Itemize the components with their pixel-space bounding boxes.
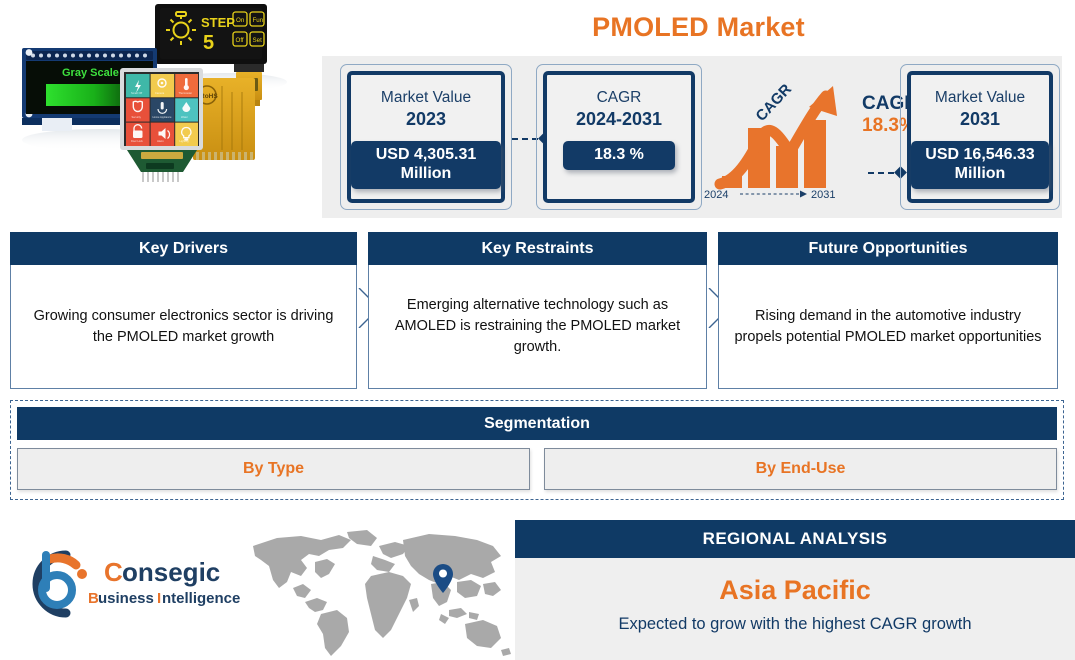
cagr-period: 2024-2031: [576, 108, 662, 131]
key-restraints-heading: Key Restraints: [368, 232, 707, 265]
market-value-2031-year: 2031: [960, 108, 1000, 131]
footer-row: C onsegic B usiness I ntelligence: [0, 512, 1075, 660]
cagr-value: 18.3 %: [563, 141, 675, 170]
regional-analysis-region: Asia Pacific: [515, 576, 1075, 606]
regional-analysis-heading: REGIONAL ANALYSIS: [515, 520, 1075, 558]
world-map: [243, 526, 515, 660]
key-drivers-heading: Key Drivers: [10, 232, 357, 265]
svg-text:Set: Set: [253, 37, 263, 44]
regional-analysis-panel: REGIONAL ANALYSIS Asia Pacific Expected …: [515, 520, 1075, 660]
svg-text:Door Lock: Door Lock: [131, 139, 144, 143]
segmentation-heading: Segmentation: [17, 407, 1057, 440]
logo-tagline-usiness: usiness: [98, 590, 154, 607]
future-opportunities-text: Rising demand in the automotive industry…: [718, 265, 1058, 389]
logo-tagline-i: I: [157, 590, 161, 607]
future-opportunities-column: Future Opportunities Rising demand in th…: [718, 232, 1058, 389]
key-drivers-column: Key Drivers Growing consumer electronics…: [10, 232, 357, 389]
market-value-2031-label: Market Value: [935, 88, 1025, 107]
svg-text:On: On: [236, 17, 245, 24]
svg-text:5: 5: [203, 32, 214, 54]
logo-name-accent: C: [104, 557, 123, 587]
logo-name-rest: onsegic: [122, 557, 220, 587]
svg-text:Water: Water: [181, 115, 188, 119]
svg-text:Smart Off: Smart Off: [131, 91, 142, 95]
market-value-2023-label: Market Value: [381, 88, 471, 107]
svg-text:Security: Security: [132, 115, 142, 119]
product-photo: STEP 5 On Fun Off Set: [0, 0, 320, 230]
market-value-2031-card: Market Value 2031 USD 16,546.33 Million: [900, 64, 1060, 210]
svg-text:Alarm: Alarm: [157, 139, 164, 143]
logo-tagline-ntelligence: ntelligence: [162, 590, 240, 607]
segmentation-by-end-use[interactable]: By End-Use: [544, 448, 1057, 490]
svg-text:Home Appliance: Home Appliance: [153, 115, 172, 119]
growth-curve-label: CAGR: [752, 81, 795, 125]
future-opportunities-heading: Future Opportunities: [718, 232, 1058, 265]
growth-end-year: 2031: [811, 189, 835, 201]
market-value-2031-value: USD 16,546.33 Million: [911, 141, 1049, 189]
infographic-page: STEP 5 On Fun Off Set: [0, 0, 1075, 660]
page-title: PMOLED Market: [322, 12, 1075, 43]
svg-text:Camera: Camera: [155, 91, 165, 95]
growth-start-year: 2024: [704, 189, 728, 201]
svg-text:Off: Off: [236, 37, 244, 44]
market-value-2023-year: 2023: [406, 108, 446, 131]
cagr-card: CAGR 2024-2031 18.3 %: [536, 64, 702, 210]
segmentation-section: Segmentation By Type By End-Use: [10, 400, 1064, 500]
stats-panel: Market Value 2023 USD 4,305.31 Million C…: [322, 56, 1062, 218]
drivers-row: Key Drivers Growing consumer electronics…: [0, 232, 1075, 394]
key-drivers-text: Growing consumer electronics sector is d…: [10, 265, 357, 389]
cagr-label: CAGR: [597, 88, 642, 107]
market-value-2023-card: Market Value 2023 USD 4,305.31 Million: [340, 64, 512, 210]
svg-text:Fun: Fun: [253, 17, 264, 24]
svg-text:Thermostat: Thermostat: [179, 91, 192, 95]
svg-text:STEP: STEP: [201, 15, 235, 30]
color-tft-module: Smart OffCameraThermostat SecurityHome A…: [120, 68, 203, 182]
regional-analysis-subtitle: Expected to grow with the highest CAGR g…: [515, 615, 1075, 634]
svg-text:Lighting: Lighting: [180, 139, 190, 143]
market-value-2023-value: USD 4,305.31 Million: [351, 141, 501, 189]
segmentation-by-type[interactable]: By Type: [17, 448, 530, 490]
consegic-logo: C onsegic B usiness I ntelligence: [10, 545, 242, 623]
key-restraints-text: Emerging alternative technology such as …: [368, 265, 707, 389]
key-restraints-column: Key Restraints Emerging alternative tech…: [368, 232, 707, 389]
